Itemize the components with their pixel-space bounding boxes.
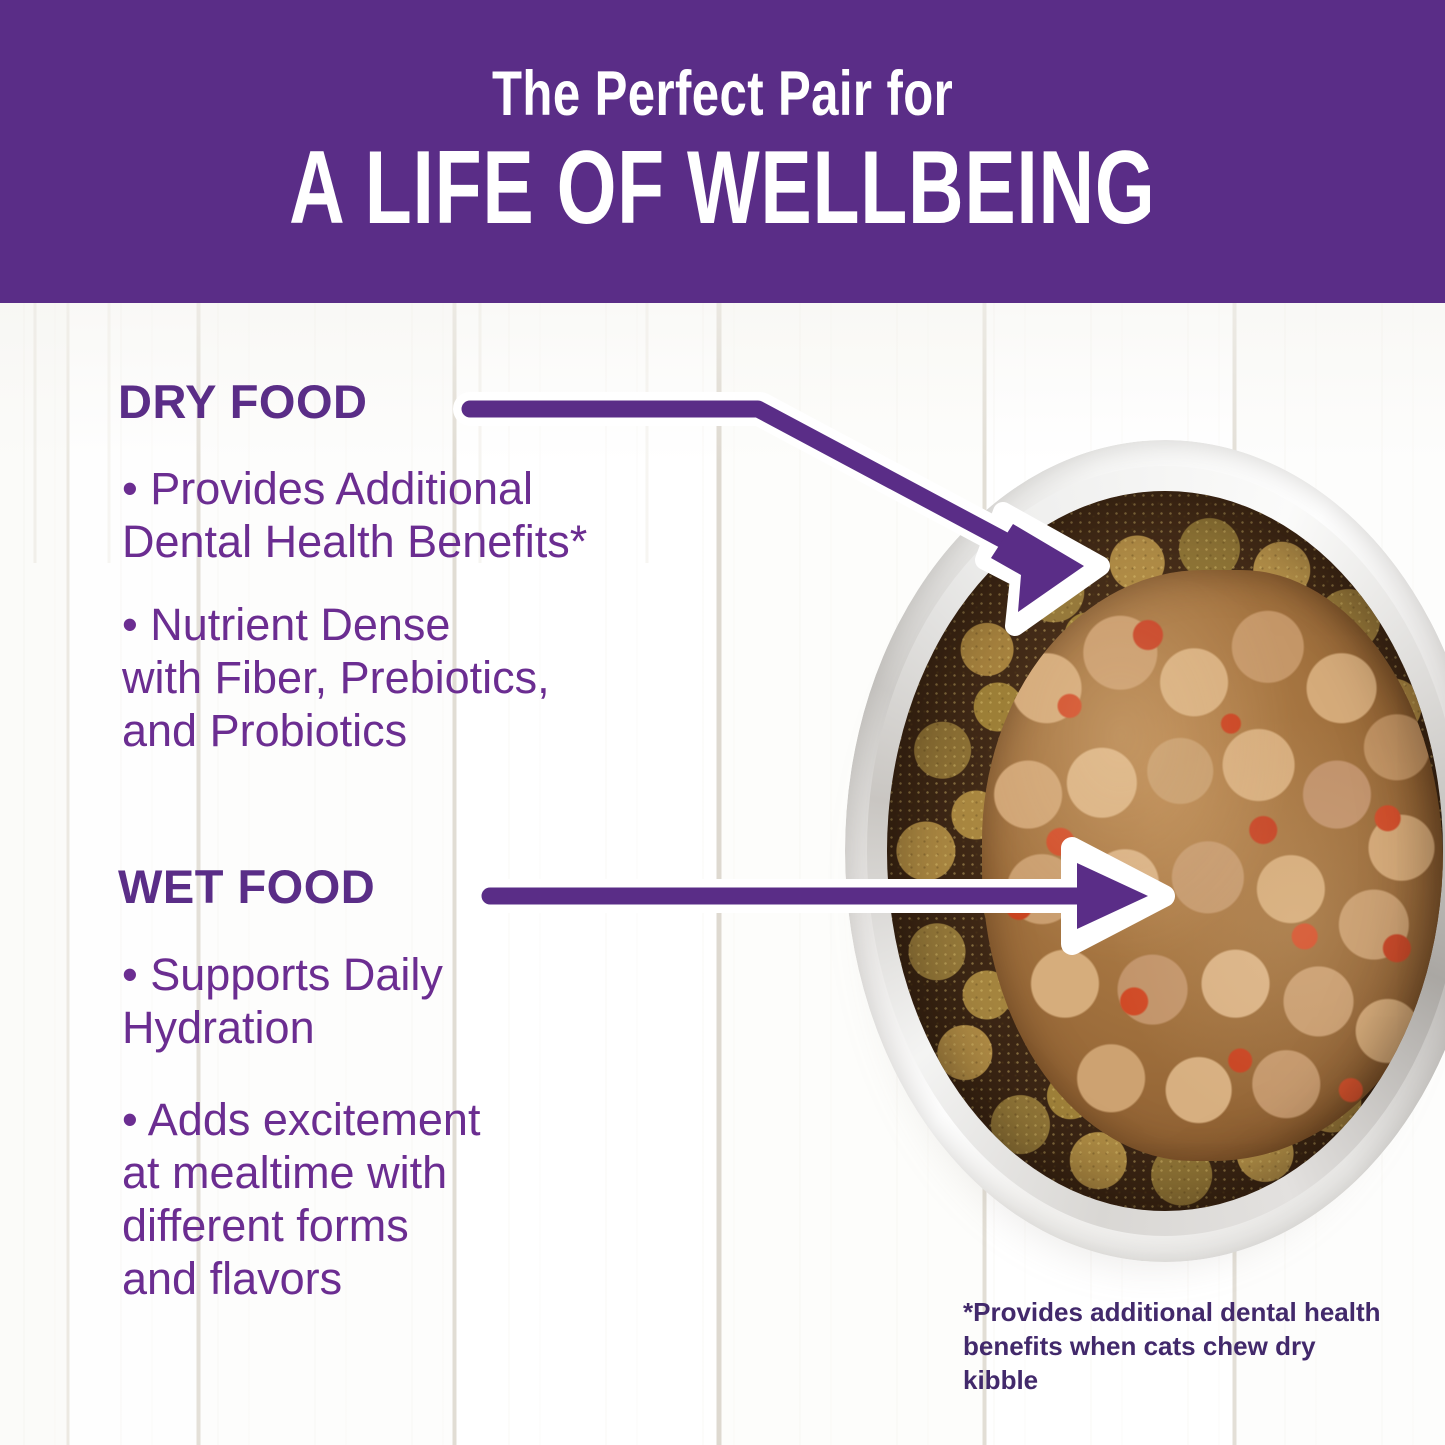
wet-food-bullet-2-line-3: different forms xyxy=(122,1199,782,1252)
footnote-line-2: benefits when cats chew dry kibble xyxy=(963,1330,1383,1398)
footnote-line-1: *Provides additional dental health xyxy=(963,1296,1383,1330)
dry-food-bullet-1-line-1: • Provides Additional xyxy=(122,462,782,515)
dry-food-bullet-2: • Nutrient Dense with Fiber, Prebiotics,… xyxy=(122,598,782,757)
wet-food-portion xyxy=(982,570,1443,1160)
wet-food-bullet-2-line-1: • Adds excitement xyxy=(122,1093,782,1146)
wet-food-heading: WET FOOD xyxy=(118,863,375,910)
header-banner: The Perfect Pair for A LIFE OF WELLBEING xyxy=(0,0,1445,303)
wet-food-bullet-1: • Supports Daily Hydration xyxy=(122,948,782,1054)
wet-food-bullet-2-line-4: and flavors xyxy=(122,1252,782,1305)
dry-food-bullet-1-line-2: Dental Health Benefits* xyxy=(122,515,782,568)
dry-food-bullet-2-line-3: and Probiotics xyxy=(122,704,782,757)
wet-food-bullet-1-line-2: Hydration xyxy=(122,1001,782,1054)
dry-food-heading: DRY FOOD xyxy=(118,378,778,425)
wet-food-bullet-2-line-2: at mealtime with xyxy=(122,1146,782,1199)
header-title: A LIFE OF WELLBEING xyxy=(289,136,1155,240)
footnote-disclaimer: *Provides additional dental health benef… xyxy=(963,1296,1383,1397)
wet-food-bullet-1-line-1: • Supports Daily xyxy=(122,948,782,1001)
dry-food-bullet-2-line-1: • Nutrient Dense xyxy=(122,598,782,651)
wet-food-bullet-2: • Adds excitement at mealtime with diffe… xyxy=(122,1093,782,1305)
header-subtitle: The Perfect Pair for xyxy=(492,63,953,126)
promo-graphic-page: The Perfect Pair for A LIFE OF WELLBEING xyxy=(0,0,1445,1445)
dry-food-bullet-2-line-2: with Fiber, Prebiotics, xyxy=(122,651,782,704)
benefits-copy-block: DRY FOOD • Provides Additional Dental He… xyxy=(118,378,778,425)
dry-food-bullet-1: • Provides Additional Dental Health Bene… xyxy=(122,462,782,568)
gravy-sheen xyxy=(982,570,1443,1160)
bowl-interior xyxy=(887,491,1443,1211)
